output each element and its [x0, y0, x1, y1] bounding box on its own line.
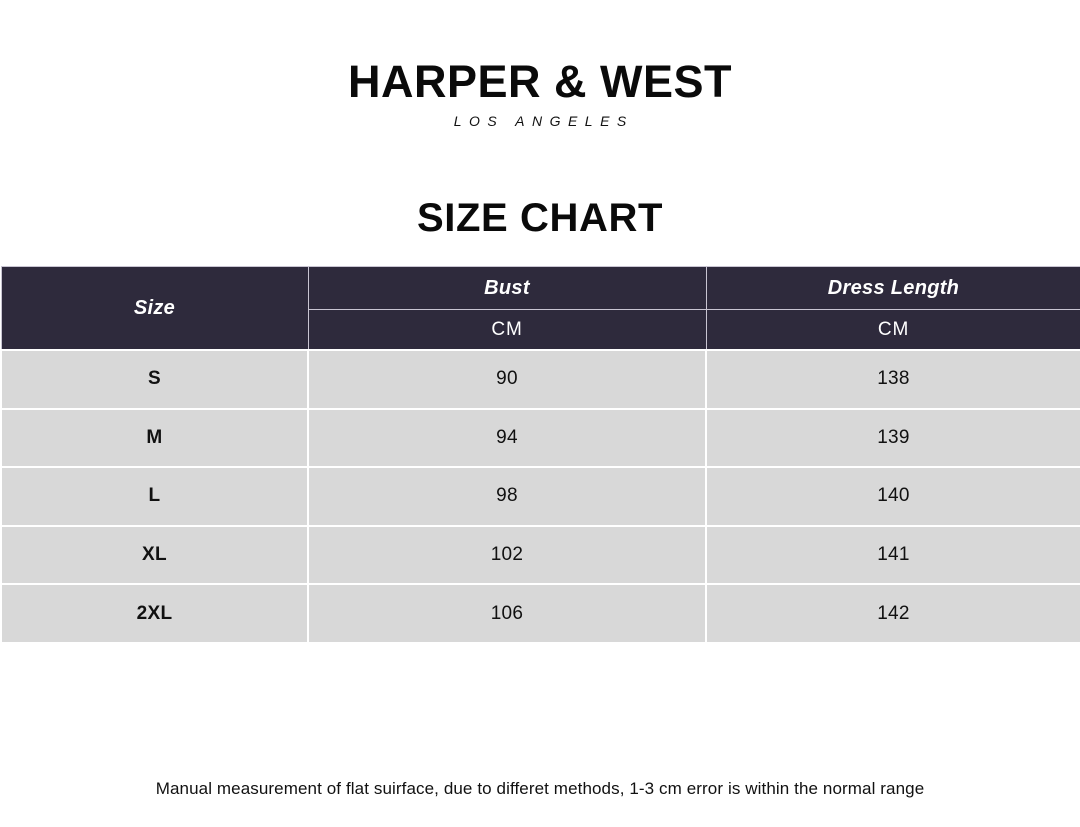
- measurement-disclaimer: Manual measurement of flat suirface, due…: [0, 778, 1080, 800]
- cell-size: L: [1, 467, 308, 526]
- cell-length: 142: [706, 584, 1080, 643]
- column-header-size: Size: [1, 267, 308, 351]
- table-body: S 90 138 M 94 139 L 98 140 XL 102 141 2X…: [1, 350, 1080, 643]
- cell-bust: 94: [308, 409, 706, 468]
- table-row: M 94 139: [1, 409, 1080, 468]
- column-header-bust: Bust: [308, 267, 706, 310]
- cell-length: 141: [706, 526, 1080, 585]
- column-unit-dress-length: CM: [706, 310, 1080, 351]
- table-header: Size Bust Dress Length CM CM: [1, 267, 1080, 351]
- cell-bust: 90: [308, 350, 706, 409]
- cell-length: 139: [706, 409, 1080, 468]
- page-title: SIZE CHART: [0, 196, 1080, 240]
- cell-length: 138: [706, 350, 1080, 409]
- size-chart-table: Size Bust Dress Length CM CM S 90 138 M …: [0, 266, 1080, 644]
- table-row: S 90 138: [1, 350, 1080, 409]
- brand-header: HARPER & WEST LOS ANGELES: [0, 58, 1080, 128]
- column-header-dress-length: Dress Length: [706, 267, 1080, 310]
- brand-name: HARPER & WEST: [0, 58, 1080, 105]
- cell-bust: 98: [308, 467, 706, 526]
- table-row: 2XL 106 142: [1, 584, 1080, 643]
- column-unit-bust: CM: [308, 310, 706, 351]
- table-row: L 98 140: [1, 467, 1080, 526]
- cell-size: M: [1, 409, 308, 468]
- table-header-row-group: Size Bust Dress Length: [1, 267, 1080, 310]
- cell-size: S: [1, 350, 308, 409]
- cell-bust: 102: [308, 526, 706, 585]
- cell-size: 2XL: [1, 584, 308, 643]
- cell-bust: 106: [308, 584, 706, 643]
- cell-size: XL: [1, 526, 308, 585]
- brand-location: LOS ANGELES: [0, 114, 1080, 128]
- cell-length: 140: [706, 467, 1080, 526]
- table-row: XL 102 141: [1, 526, 1080, 585]
